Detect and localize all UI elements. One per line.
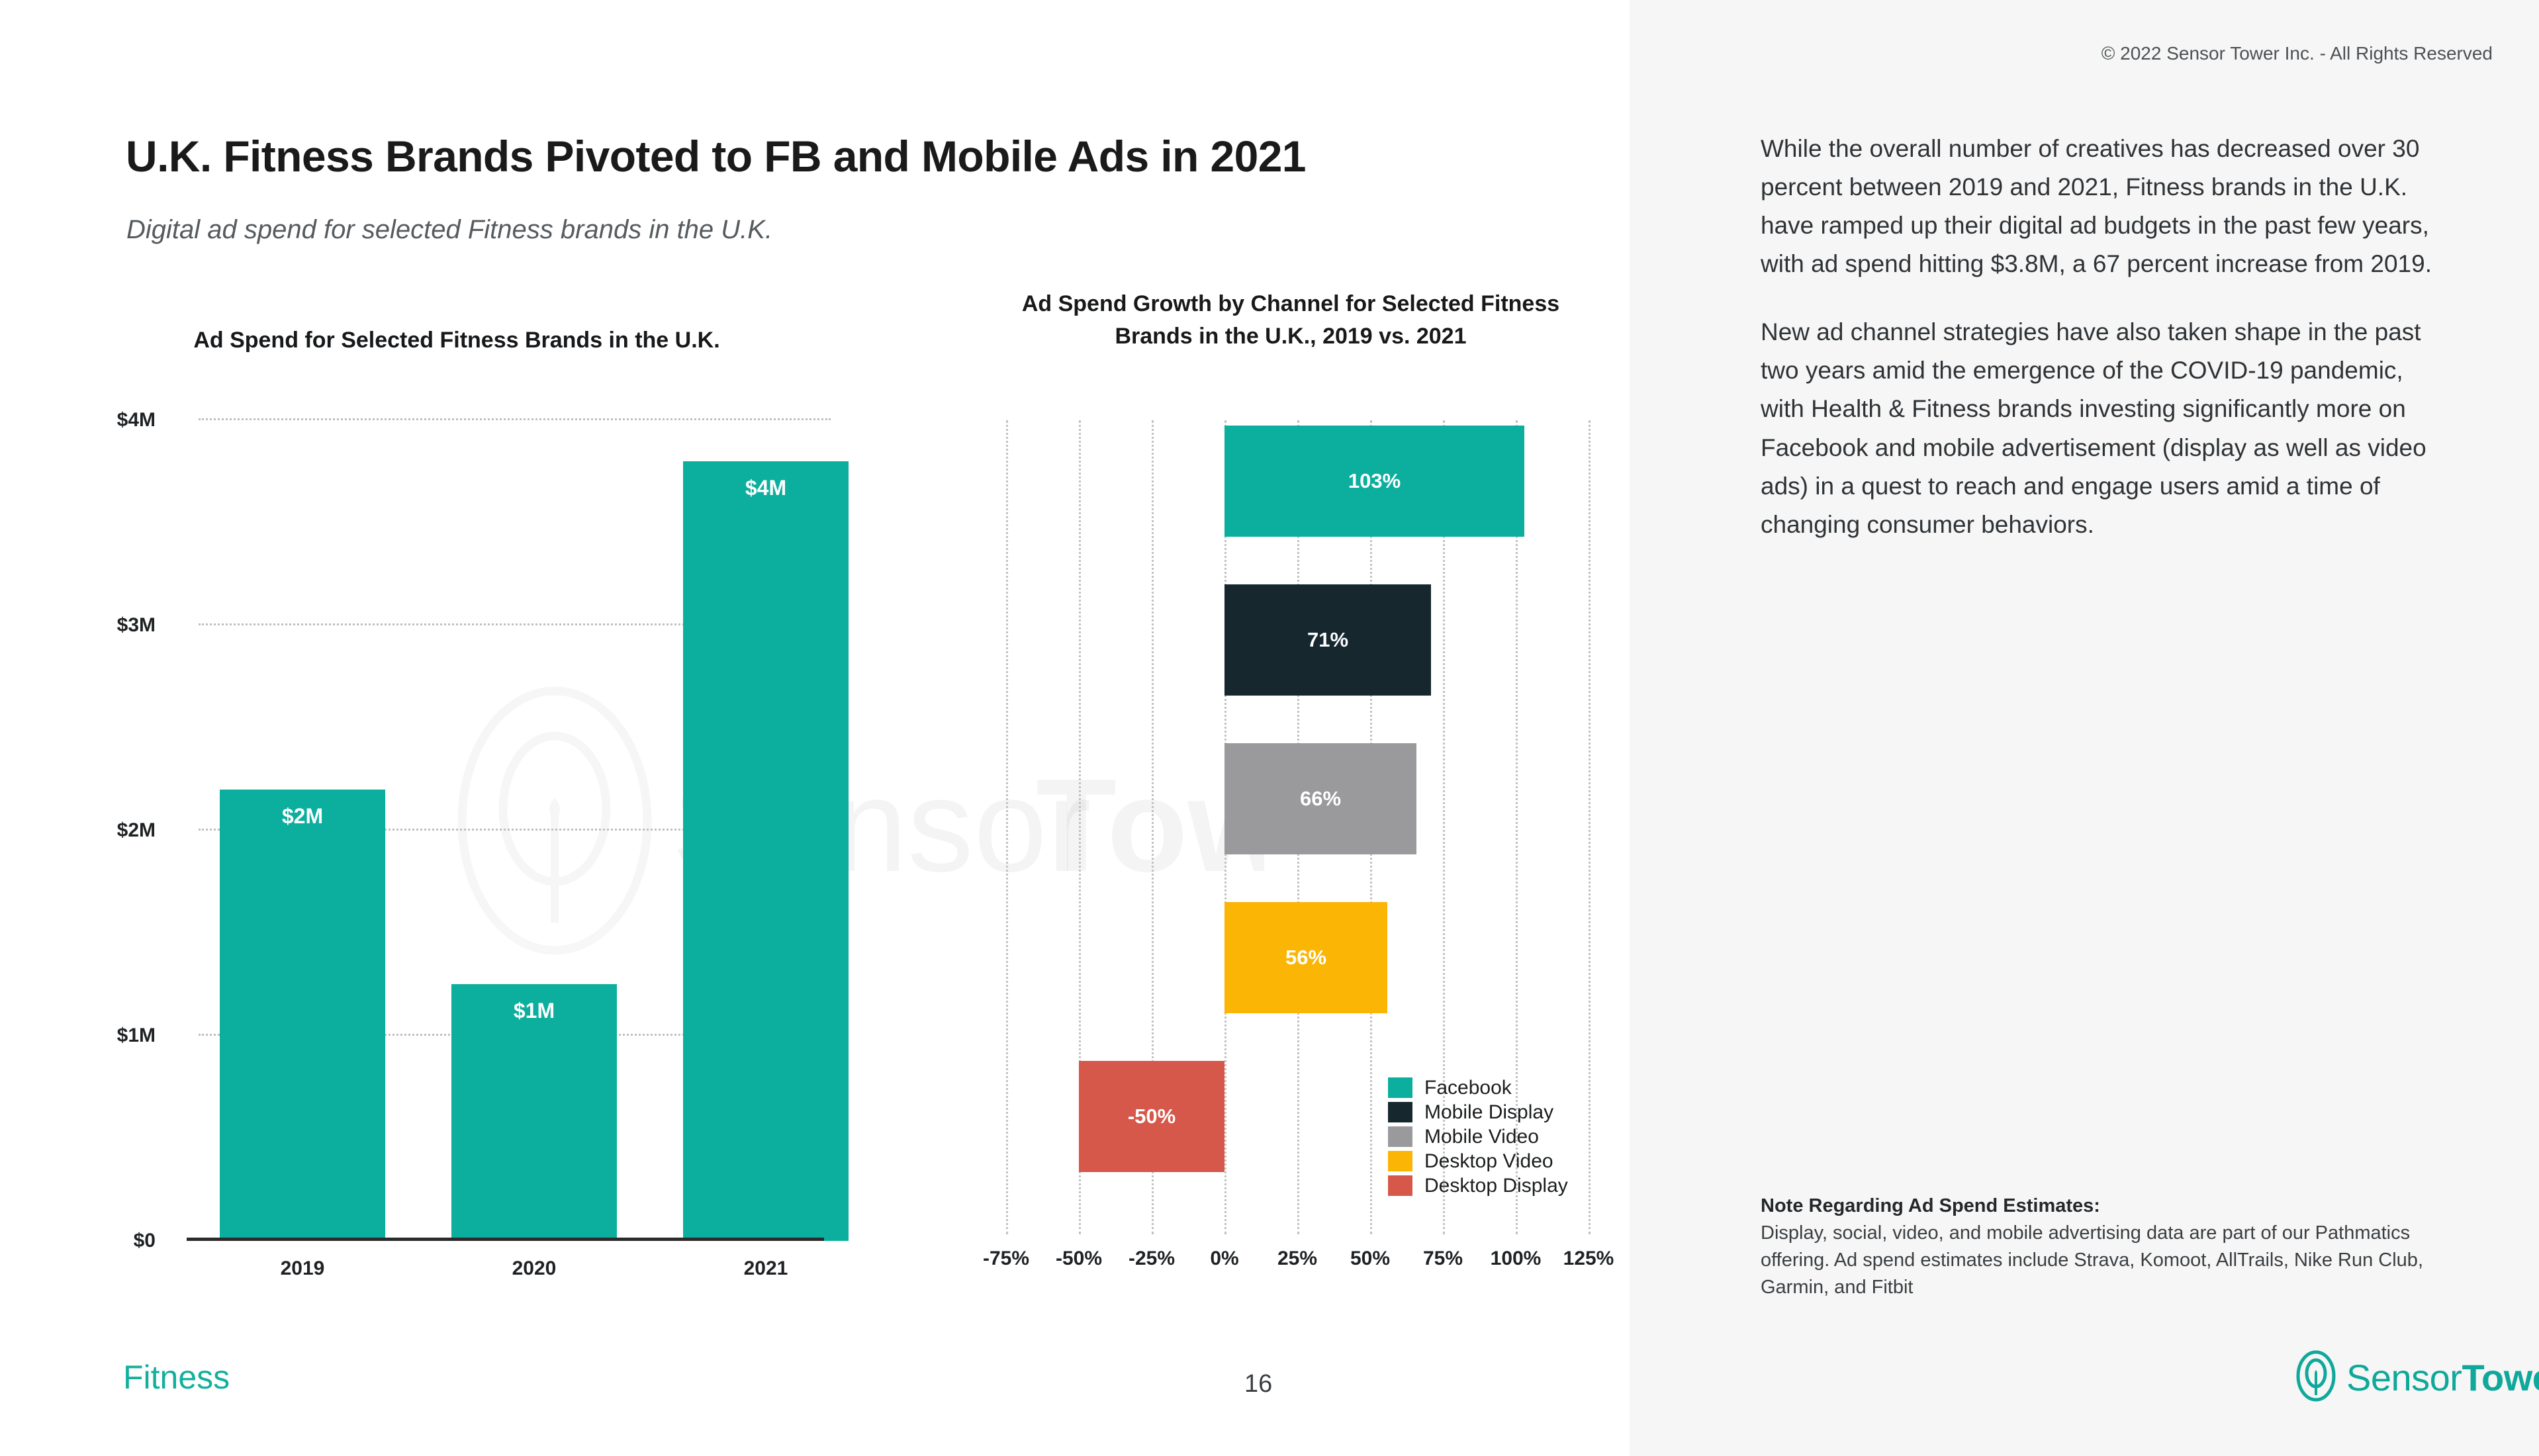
slide-root: U.K. Fitness Brands Pivoted to FB and Mo… — [0, 0, 2539, 1456]
copyright-notice: © 2022 Sensor Tower Inc. - All Rights Re… — [2101, 43, 2493, 64]
sensor-tower-wordmark: SensorTower — [2346, 1356, 2539, 1399]
xtick-2020: 2020 — [451, 1257, 617, 1280]
bar-2021[interactable]: $4M — [683, 461, 849, 1241]
legend-item-desktop-display[interactable]: Desktop Display — [1388, 1173, 1568, 1198]
legend-swatch-desktop-display — [1388, 1175, 1412, 1196]
bar-label-2019: $2M — [220, 804, 385, 829]
xtick-100: 100% — [1491, 1248, 1542, 1270]
left-content-panel: U.K. Fitness Brands Pivoted to FB and Mo… — [0, 0, 1630, 1456]
bar-label-desktop-video: 56% — [1224, 946, 1387, 970]
bar-2020[interactable]: $1M — [451, 984, 617, 1241]
bar-label-desktop-display: -50% — [1079, 1105, 1224, 1128]
bar-label-2021: $4M — [683, 476, 849, 500]
vgrid-125 — [1589, 420, 1591, 1234]
bar-label-facebook: 103% — [1224, 469, 1524, 493]
xtick-125: 125% — [1563, 1248, 1614, 1270]
note-heading: Note Regarding Ad Spend Estimates: — [1761, 1195, 2462, 1217]
bar-mobile-display[interactable]: 71% — [1224, 584, 1431, 696]
methodology-note: Note Regarding Ad Spend Estimates: Displ… — [1761, 1195, 2462, 1302]
chart-ad-spend-by-year: Ad Spend for Selected Fitness Brands in … — [0, 0, 927, 1324]
legend-label-desktop-display: Desktop Display — [1424, 1175, 1568, 1197]
commentary-text: While the overall number of creatives ha… — [1761, 130, 2442, 544]
ytick-3m: $3M — [50, 614, 156, 637]
left-chart-plot-area: $2M $1M $4M — [199, 420, 831, 1241]
legend-item-mobile-display[interactable]: Mobile Display — [1388, 1100, 1568, 1124]
legend-label-mobile-video: Mobile Video — [1424, 1126, 1539, 1148]
logo-word-tower: Tower — [2462, 1357, 2539, 1398]
chart-legend: Facebook Mobile Display Mobile Video Des… — [1388, 1075, 1568, 1198]
xtick-2019: 2019 — [220, 1257, 385, 1280]
xtick--50: -50% — [1056, 1248, 1102, 1270]
xtick-50: 50% — [1350, 1248, 1390, 1270]
legend-item-facebook[interactable]: Facebook — [1388, 1075, 1568, 1100]
category-tag-fitness: Fitness — [123, 1358, 230, 1396]
commentary-paragraph-1: While the overall number of creatives ha… — [1761, 130, 2442, 283]
legend-label-mobile-display: Mobile Display — [1424, 1101, 1553, 1124]
xtick-75: 75% — [1423, 1248, 1463, 1270]
legend-swatch-mobile-display — [1388, 1102, 1412, 1122]
xtick-25: 25% — [1277, 1248, 1317, 1270]
bar-label-mobile-display: 71% — [1224, 628, 1431, 652]
vgrid--75 — [1006, 420, 1008, 1234]
page-number: 16 — [1244, 1370, 1272, 1398]
right-chart-title: Ad Spend Growth by Channel for Selected … — [999, 288, 1582, 353]
legend-swatch-desktop-video — [1388, 1151, 1412, 1171]
bar-desktop-video[interactable]: 56% — [1224, 902, 1387, 1013]
bar-label-mobile-video: 66% — [1224, 787, 1416, 811]
xtick--75: -75% — [983, 1248, 1029, 1270]
ytick-2m: $2M — [50, 819, 156, 842]
legend-swatch-mobile-video — [1388, 1126, 1412, 1147]
legend-label-facebook: Facebook — [1424, 1077, 1512, 1099]
commentary-paragraph-2: New ad channel strategies have also take… — [1761, 313, 2442, 543]
xtick-0: 0% — [1210, 1248, 1238, 1270]
ytick-0: $0 — [50, 1230, 156, 1252]
bar-mobile-video[interactable]: 66% — [1224, 743, 1416, 854]
logo-word-sensor: Sensor — [2346, 1357, 2462, 1398]
left-chart-title: Ad Spend for Selected Fitness Brands in … — [86, 324, 827, 357]
xtick-2021: 2021 — [683, 1257, 849, 1280]
legend-item-desktop-video[interactable]: Desktop Video — [1388, 1149, 1568, 1173]
bar-facebook[interactable]: 103% — [1224, 426, 1524, 537]
left-chart-x-axis-line — [187, 1238, 824, 1241]
right-sidebar-panel: © 2022 Sensor Tower Inc. - All Rights Re… — [1630, 0, 2539, 1456]
ytick-4m: $4M — [50, 409, 156, 432]
sensor-tower-logo: SensorTower — [2295, 1350, 2539, 1405]
legend-label-desktop-video: Desktop Video — [1424, 1150, 1553, 1173]
ytick-1m: $1M — [50, 1024, 156, 1047]
bar-label-2020: $1M — [451, 999, 617, 1023]
sensor-tower-mark-icon — [2295, 1350, 2337, 1405]
bar-2019[interactable]: $2M — [220, 790, 385, 1241]
legend-item-mobile-video[interactable]: Mobile Video — [1388, 1124, 1568, 1149]
xtick--25: -25% — [1129, 1248, 1175, 1270]
gridline-4m — [199, 418, 831, 420]
note-body: Display, social, video, and mobile adver… — [1761, 1220, 2462, 1302]
legend-swatch-facebook — [1388, 1077, 1412, 1098]
bar-desktop-display[interactable]: -50% — [1079, 1061, 1224, 1172]
